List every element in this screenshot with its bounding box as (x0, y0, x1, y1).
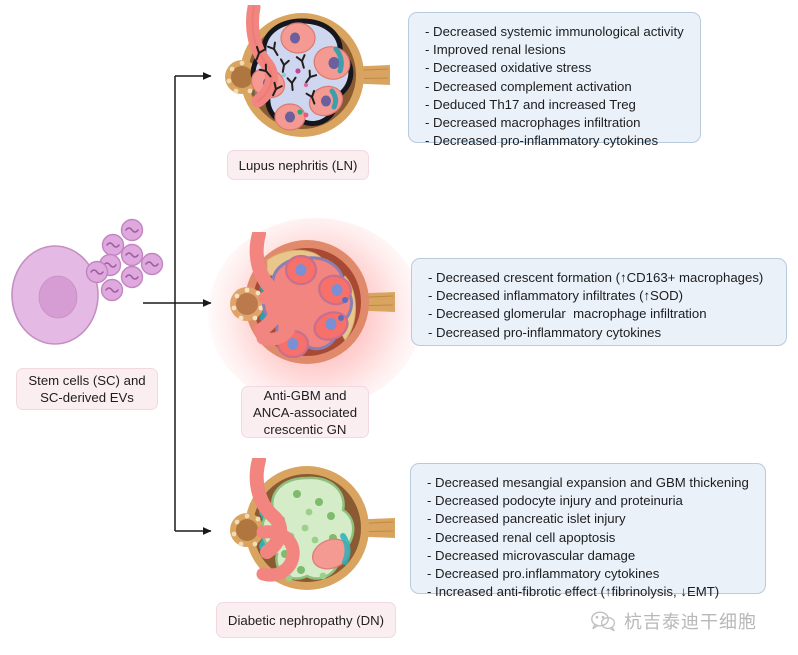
figure-canvas: Stem cells (SC) and SC-derived EVs (0, 0, 798, 655)
outcome-item: - Increased anti-fibrotic effect (↑fibri… (427, 583, 751, 601)
outcome-box-anti-gbm-anca: - Decreased crescent formation (↑CD163+ … (411, 258, 787, 346)
watermark: 杭吉泰迪干细胞 (590, 608, 757, 634)
outcome-item: - Decreased glomerular macrophage infilt… (428, 305, 772, 323)
outcome-item: - Decreased macrophages infiltration (425, 114, 686, 132)
glomerulus-crescentic-gn (219, 232, 399, 374)
disease-label-line1: Anti-GBM and (264, 387, 347, 404)
outcome-item: - Decreased inflammatory infiltrates (↑S… (428, 287, 772, 305)
outcome-box-diabetic-nephropathy: - Decreased mesangial expansion and GBM … (410, 463, 766, 594)
outcome-item: - Decreased pro.inflammatory cytokines (427, 565, 751, 583)
outcome-item: - Decreased oxidative stress (425, 59, 686, 77)
outcome-item: - Decreased renal cell apoptosis (427, 529, 751, 547)
label-chip-anti-gbm-anca: Anti-GBM and ANCA-associated crescentic … (241, 386, 369, 438)
outcome-item: - Deduced Th17 and increased Treg (425, 96, 686, 114)
label-chip-diabetic-nephropathy: Diabetic nephropathy (DN) (216, 602, 396, 638)
label-chip-lupus-nephritis: Lupus nephritis (LN) (227, 150, 369, 180)
outcome-item: - Decreased microvascular damage (427, 547, 751, 565)
outcome-item: - Decreased podocyte injury and proteinu… (427, 492, 751, 510)
outcome-box-lupus-nephritis: - Decreased systemic immunological activ… (408, 12, 701, 143)
wechat-logo-icon (590, 610, 616, 632)
outcome-item: - Decreased mesangial expansion and GBM … (427, 474, 751, 492)
outcome-item: - Decreased pro-inflammatory cytokines (428, 324, 772, 342)
outcome-item: - Decreased pancreatic islet injury (427, 510, 751, 528)
juxtaglomerular-apparatus (230, 287, 264, 321)
outcome-item: - Decreased crescent formation (↑CD163+ … (428, 269, 772, 287)
outcome-item: - Decreased systemic immunological activ… (425, 23, 686, 41)
disease-label-line3: crescentic GN (264, 421, 347, 438)
glomerulus-lupus-nephritis (214, 5, 394, 147)
disease-label-lupus-nephritis: Lupus nephritis (LN) (239, 157, 358, 174)
outcome-item: - Improved renal lesions (425, 41, 686, 59)
disease-label-diabetic-nephropathy: Diabetic nephropathy (DN) (228, 612, 384, 629)
watermark-text: 杭吉泰迪干细胞 (624, 608, 757, 634)
outcome-item: - Decreased pro-inflammatory cytokines (425, 132, 686, 150)
glomerulus-diabetic-nephropathy (219, 458, 399, 600)
disease-label-line2: ANCA-associated (253, 404, 357, 421)
outcome-item: - Decreased complement activation (425, 78, 686, 96)
